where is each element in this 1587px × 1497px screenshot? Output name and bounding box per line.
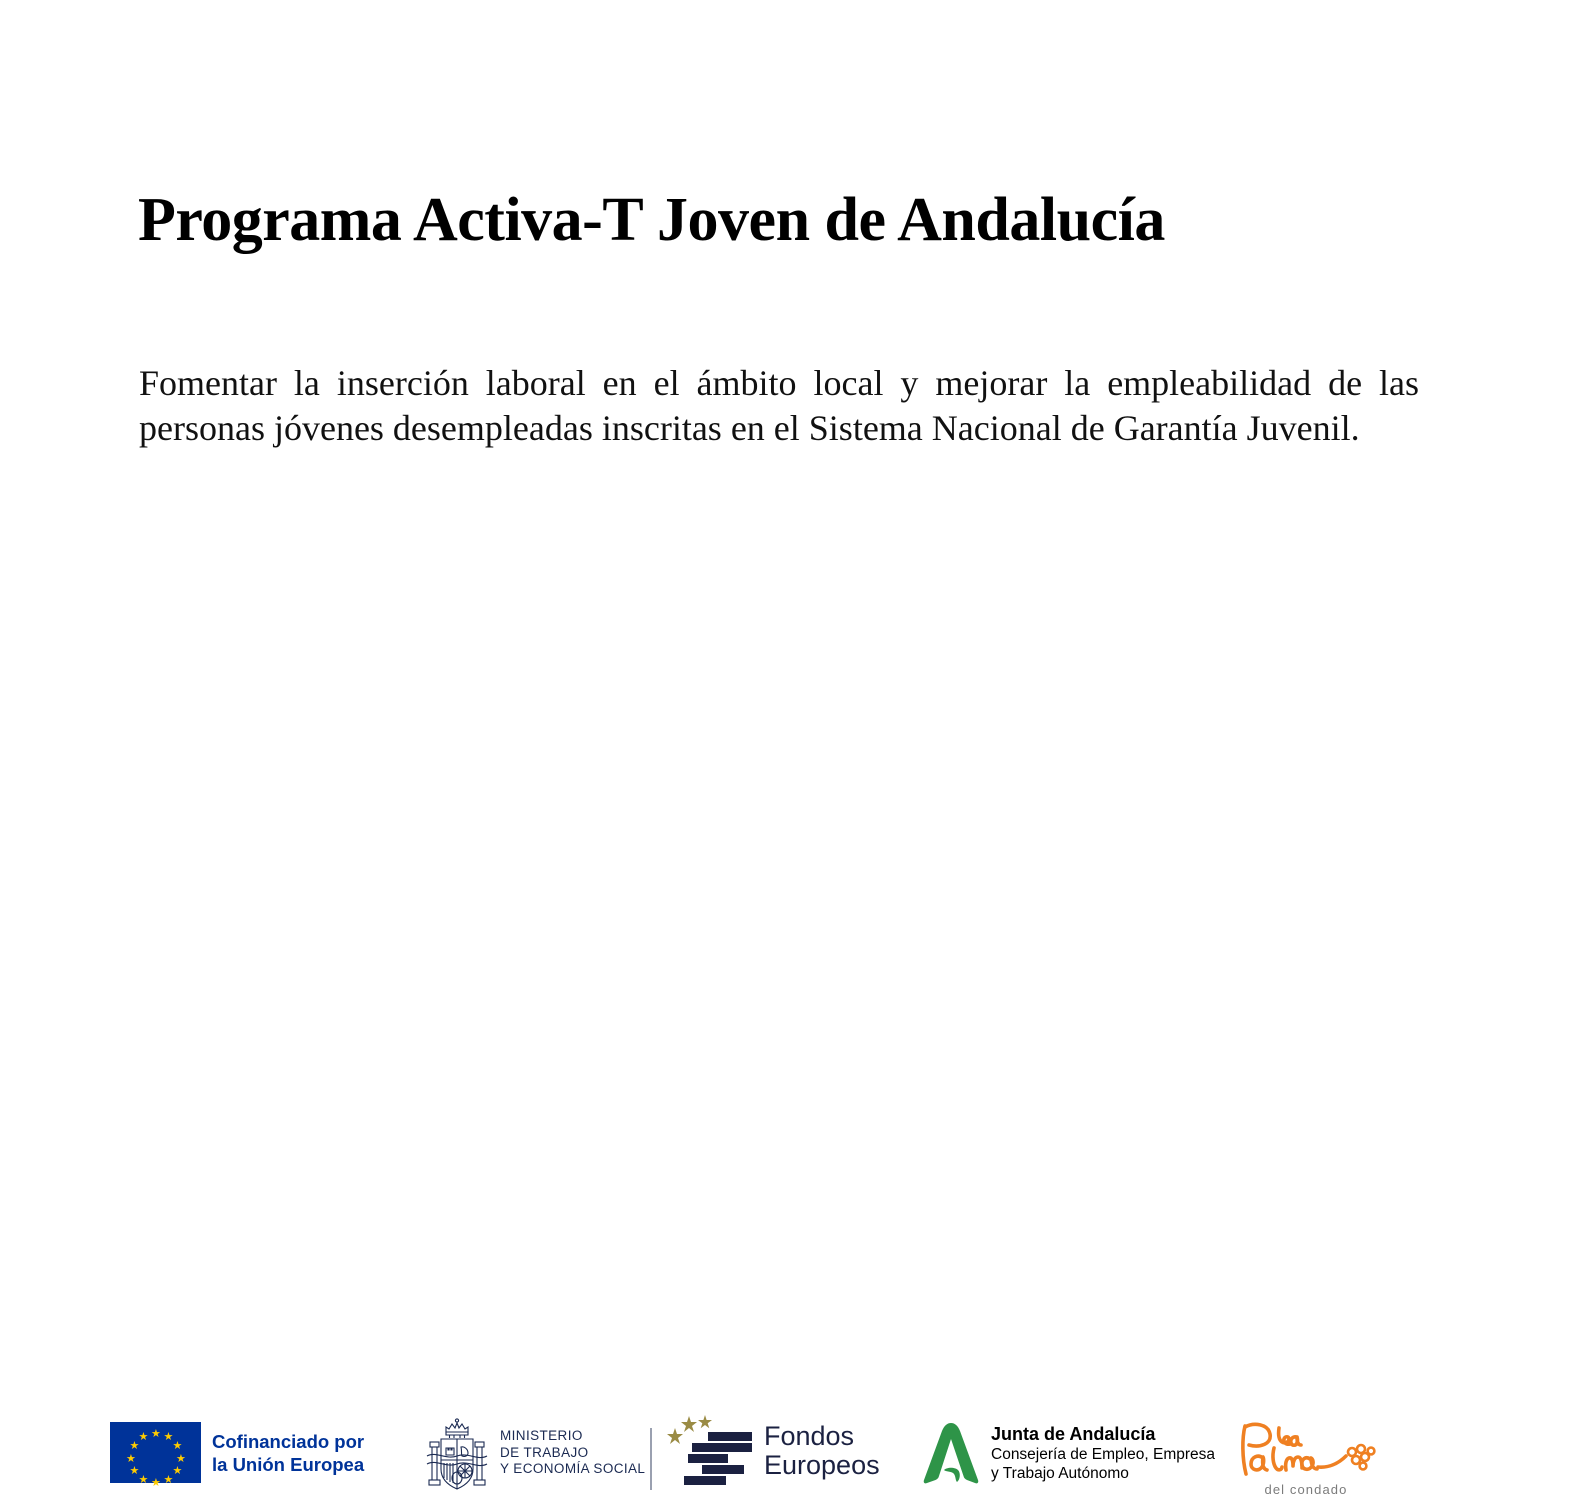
ministerio-de-trabajo-logo: MINISTERIO DE TRABAJO Y ECONOMÍA SOCIAL [424,1414,645,1492]
grape-dots-icon [1348,1445,1374,1469]
eu-star-icon: ★ [130,1441,139,1450]
eu-star-icon: ★ [139,1432,148,1441]
junta-de-andalucia-logo: Junta de Andalucía Consejería de Empleo,… [922,1422,1215,1484]
fondos-europeos-logo: Fondos Europeos [666,1414,880,1488]
program-description: Fomentar la inserción laboral en el ámbi… [139,361,1419,451]
eu-text-line-1: Cofinanciado por [212,1430,364,1453]
eu-star-icon: ★ [151,1478,160,1487]
fondos-stars-icon [667,1415,712,1444]
fondos-logo-text: Fondos Europeos [764,1422,880,1480]
ministerio-text-line-1: MINISTERIO [500,1428,645,1445]
junta-subtitle-line-1: Consejería de Empleo, Empresa [991,1445,1215,1464]
eu-star-icon: ★ [139,1475,148,1484]
eu-logo-text: Cofinanciado por la Unión Europea [212,1430,364,1476]
page-title: Programa Activa-T Joven de Andalucía [138,182,1458,258]
eu-text-line-2: la Unión Europea [212,1453,364,1476]
fondos-text-line-2: Europeos [764,1451,880,1480]
eu-flag-icon: ★ ★ ★ ★ ★ ★ ★ ★ ★ ★ ★ ★ [110,1422,201,1483]
junta-andalucia-a-icon [922,1422,980,1484]
la-palma-del-condado-logo: del condado [1232,1418,1380,1497]
junta-title: Junta de Andalucía [991,1424,1215,1445]
eu-star-icon: ★ [126,1454,135,1463]
eu-star-icon: ★ [176,1454,185,1463]
ministerio-text-line-2: DE TRABAJO [500,1445,645,1462]
spain-coat-of-arms-icon [424,1414,490,1492]
la-palma-subtitle: del condado [1232,1482,1380,1497]
funding-logo-strip: ★ ★ ★ ★ ★ ★ ★ ★ ★ ★ ★ ★ Cofinanciado por… [0,700,1587,830]
european-union-logo: ★ ★ ★ ★ ★ ★ ★ ★ ★ ★ ★ ★ Cofinanciado por… [110,1422,364,1483]
la-palma-wordmark-icon [1232,1418,1380,1480]
fondos-europeos-mark-icon [666,1414,752,1488]
eu-star-icon: ★ [151,1429,160,1438]
ministerio-text-line-3: Y ECONOMÍA SOCIAL [500,1461,645,1478]
eu-star-icon: ★ [173,1441,182,1450]
junta-logo-text: Junta de Andalucía Consejería de Empleo,… [991,1424,1215,1483]
fondos-text-line-1: Fondos [764,1422,880,1451]
eu-star-icon: ★ [130,1466,139,1475]
junta-subtitle-line-2: y Trabajo Autónomo [991,1464,1215,1483]
eu-star-icon: ★ [164,1432,173,1441]
logo-divider [650,1428,652,1490]
eu-star-icon: ★ [173,1466,182,1475]
ministerio-logo-text: MINISTERIO DE TRABAJO Y ECONOMÍA SOCIAL [500,1428,645,1478]
eu-star-icon: ★ [164,1475,173,1484]
